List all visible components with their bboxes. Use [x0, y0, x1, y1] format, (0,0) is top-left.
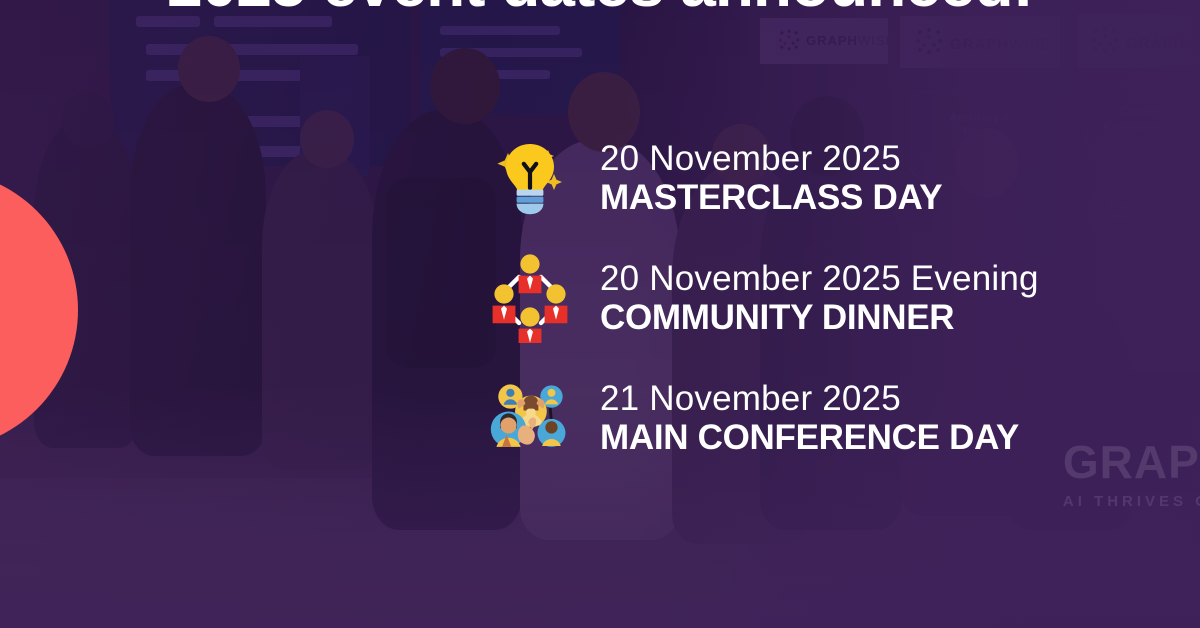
- event-date: 20 November 2025 Evening: [600, 259, 1039, 298]
- page-title: 2025 event dates announced!: [0, 0, 1200, 16]
- lightbulb-icon: [488, 136, 572, 220]
- event-title: MASTERCLASS DAY: [600, 178, 942, 217]
- people-network-icon: [488, 256, 572, 340]
- event-item-main-conference: 21 November 2025 MAIN CONFERENCE DAY: [488, 376, 1148, 460]
- event-item-community-dinner: 20 November 2025 Evening COMMUNITY DINNE…: [488, 256, 1148, 340]
- event-item-masterclass: 20 November 2025 MASTERCLASS DAY: [488, 136, 1148, 220]
- event-list: 20 November 2025 MASTERCLASS DAY: [488, 136, 1148, 460]
- event-text-block: 21 November 2025 MAIN CONFERENCE DAY: [600, 379, 1019, 457]
- event-date: 20 November 2025: [600, 139, 942, 178]
- event-announcement-banner: GRAPHWISE GRAPHWISE Accuracy &Recon GRAP…: [0, 0, 1200, 628]
- event-date: 21 November 2025: [600, 379, 1019, 418]
- community-avatars-icon: [488, 376, 572, 460]
- event-title: MAIN CONFERENCE DAY: [600, 418, 1019, 457]
- event-text-block: 20 November 2025 Evening COMMUNITY DINNE…: [600, 259, 1039, 337]
- event-title: COMMUNITY DINNER: [600, 298, 1039, 337]
- event-text-block: 20 November 2025 MASTERCLASS DAY: [600, 139, 942, 217]
